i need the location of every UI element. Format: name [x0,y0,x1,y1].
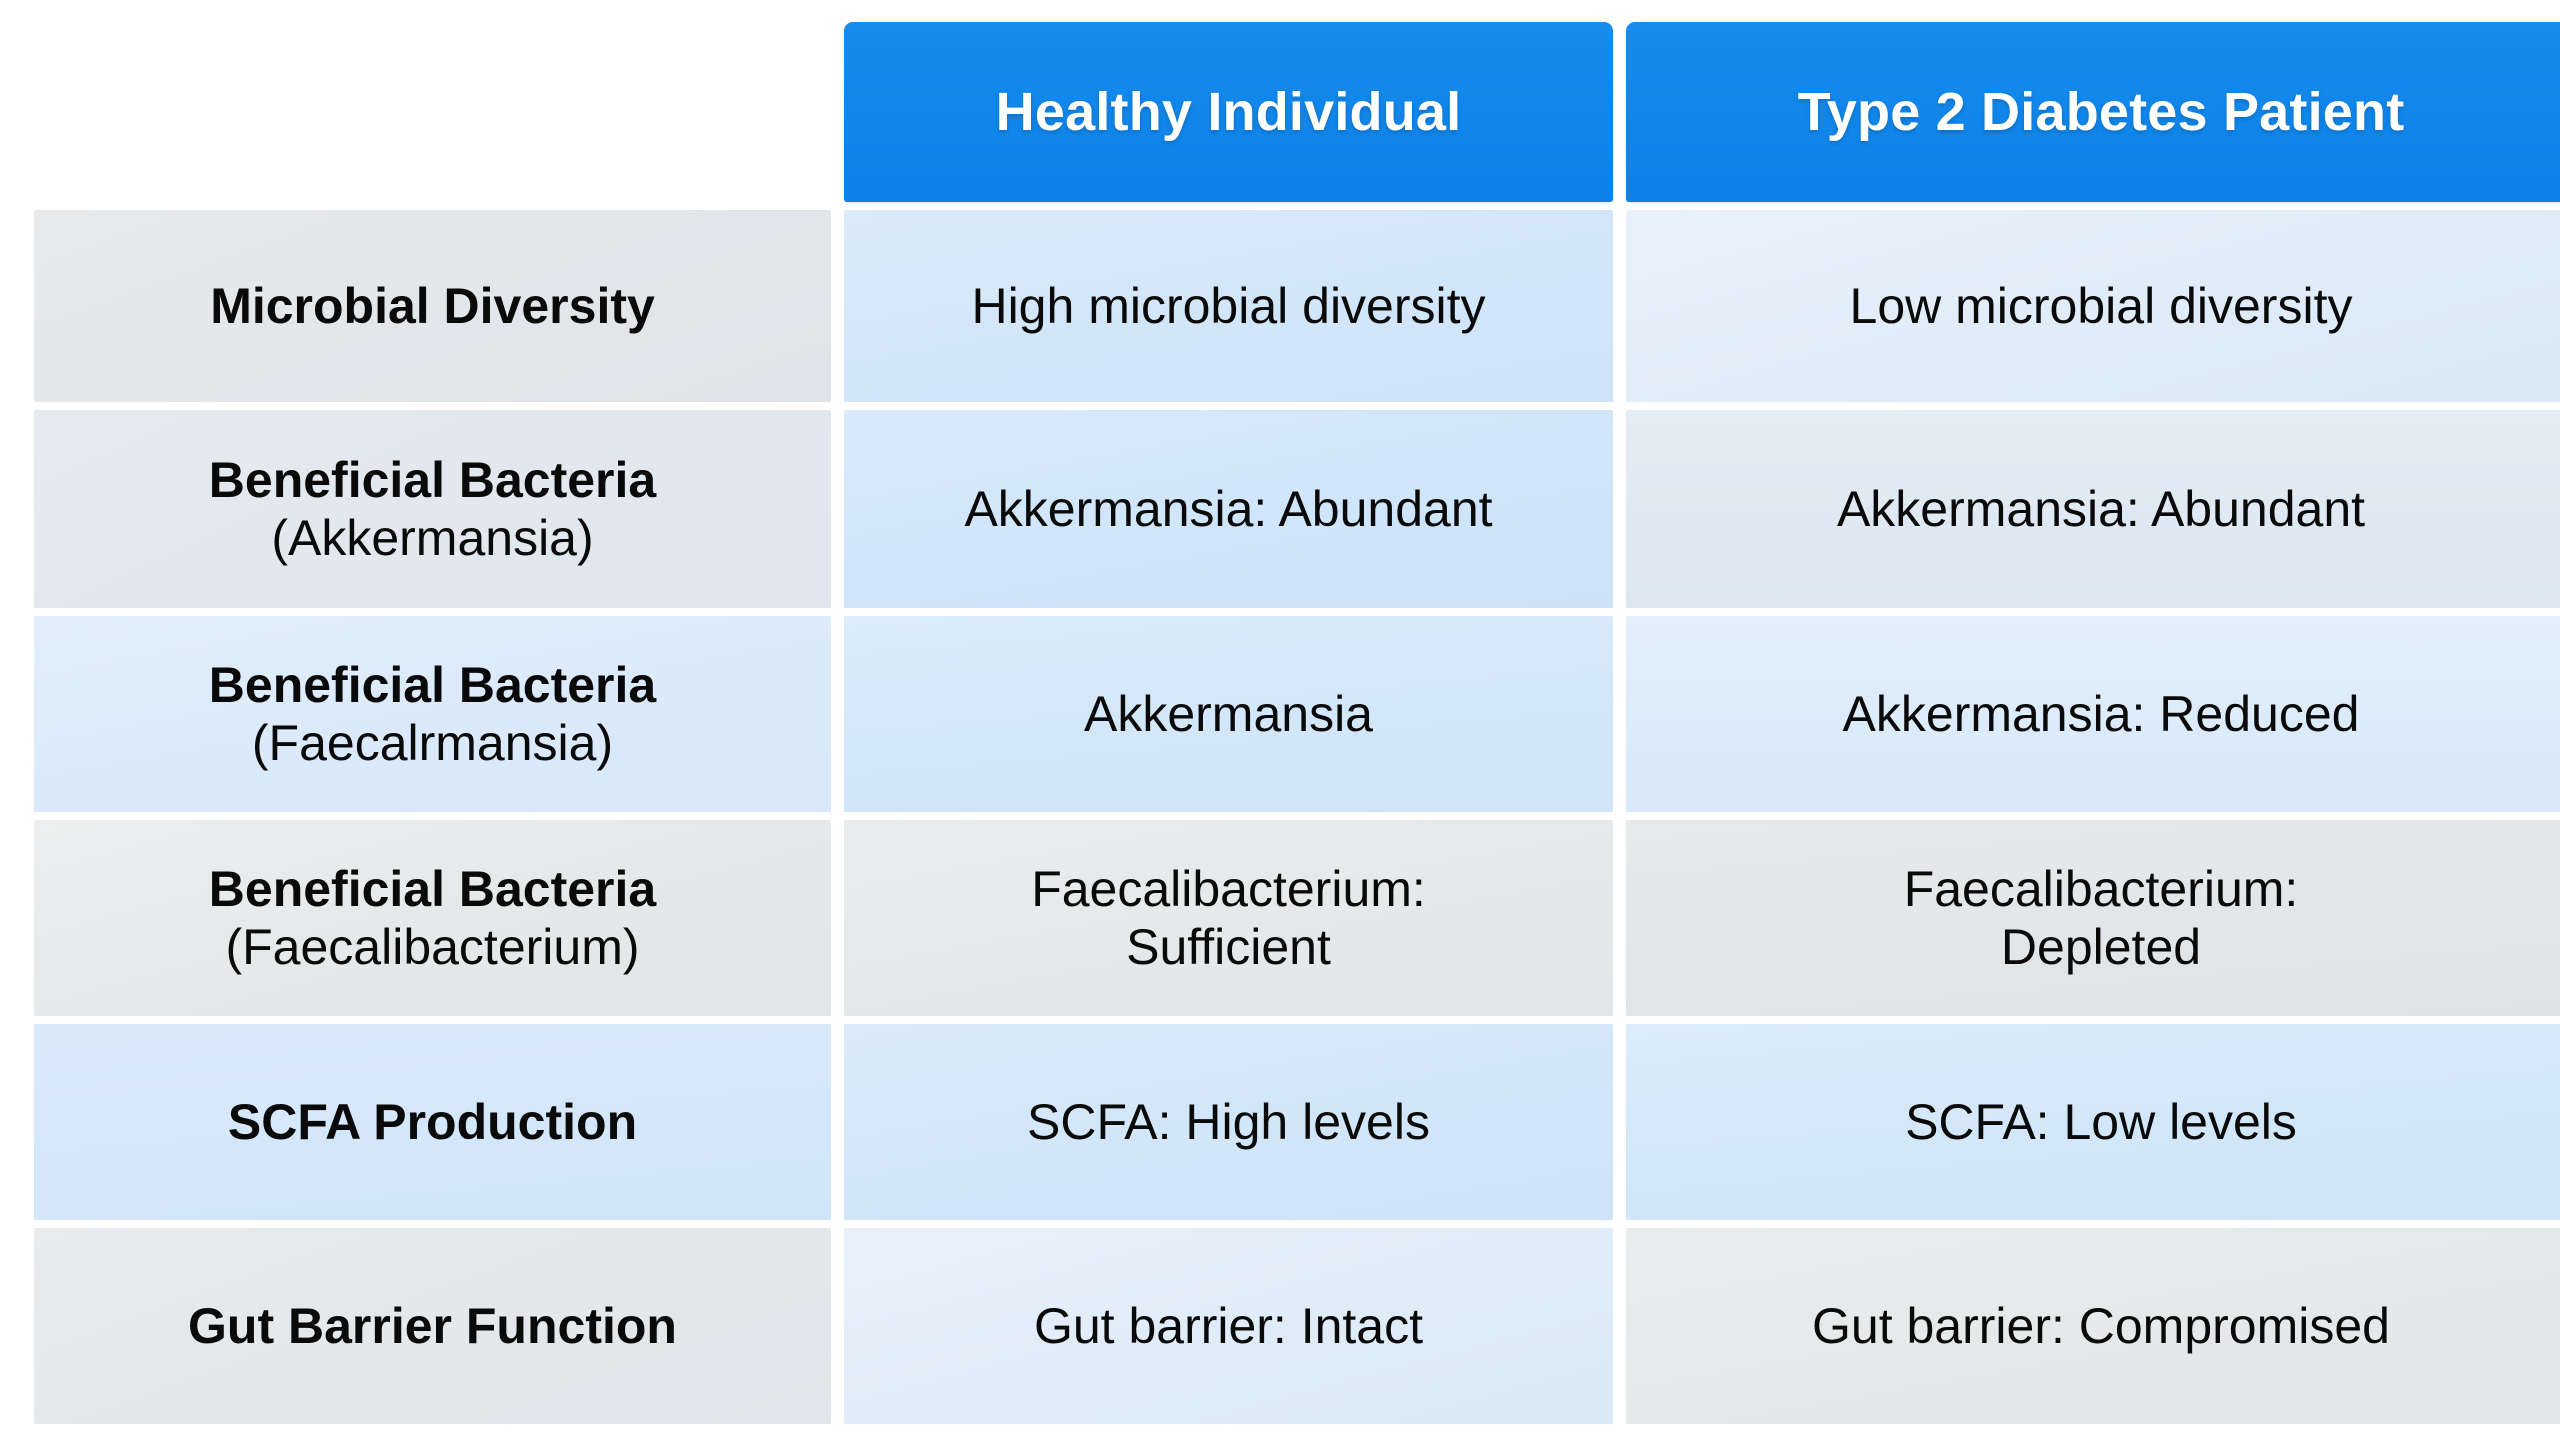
cell-diabetes-akkermansia: Akkermansia: Abundant [1626,410,2560,608]
row-label-sub: (Akkermansia) [209,509,656,567]
row-label-microbial-diversity: Microbial Diversity [34,210,831,402]
row-label-gut-barrier-function: Gut Barrier Function [34,1228,831,1424]
row-label-beneficial-bacteria-faecalrmansia: Beneficial Bacteria (Faecalrmansia) [34,616,831,812]
row-label-beneficial-bacteria-akkermansia: Beneficial Bacteria (Akkermansia) [34,410,831,608]
cell-healthy-microbial-diversity: High microbial diversity [844,210,1613,402]
cell-diabetes-faecalrmansia: Akkermansia: Reduced [1626,616,2560,812]
cell-healthy-faecalibacterium: Faecalibacterium: Sufficient [844,820,1613,1016]
row-label-scfa-production: SCFA Production [34,1024,831,1220]
comparison-table: Healthy Individual Type 2 Diabetes Patie… [0,0,2560,1440]
row-label-main: Gut Barrier Function [188,1297,677,1355]
row-label-main: Beneficial Bacteria [209,451,656,509]
table-grid: Healthy Individual Type 2 Diabetes Patie… [34,22,2560,1424]
column-header-type-2-diabetes-patient: Type 2 Diabetes Patient [1626,22,2560,202]
row-label-main: Beneficial Bacteria [209,860,656,918]
row-label-sub: (Faecalibacterium) [209,918,656,976]
cell-diabetes-gut-barrier: Gut barrier: Compromised [1626,1228,2560,1424]
cell-healthy-akkermansia: Akkermansia: Abundant [844,410,1613,608]
cell-healthy-gut-barrier: Gut barrier: Intact [844,1228,1613,1424]
column-header-healthy-individual: Healthy Individual [844,22,1613,202]
cell-diabetes-microbial-diversity: Low microbial diversity [1626,210,2560,402]
cell-text-line-2: Depleted [1904,918,2299,976]
cell-text-line-2: Sufficient [1031,918,1426,976]
cell-healthy-scfa: SCFA: High levels [844,1024,1613,1220]
row-label-sub: (Faecalrmansia) [209,714,656,772]
row-label-main: Beneficial Bacteria [209,656,656,714]
cell-text-line-1: Faecalibacterium: [1904,860,2299,918]
header-spacer-cell [34,22,831,202]
cell-healthy-faecalrmansia: Akkermansia [844,616,1613,812]
row-label-main: Microbial Diversity [210,277,655,335]
row-label-beneficial-bacteria-faecalibacterium: Beneficial Bacteria (Faecalibacterium) [34,820,831,1016]
cell-diabetes-scfa: SCFA: Low levels [1626,1024,2560,1220]
row-label-main: SCFA Production [228,1093,637,1151]
cell-text-line-1: Faecalibacterium: [1031,860,1426,918]
cell-diabetes-faecalibacterium: Faecalibacterium: Depleted [1626,820,2560,1016]
